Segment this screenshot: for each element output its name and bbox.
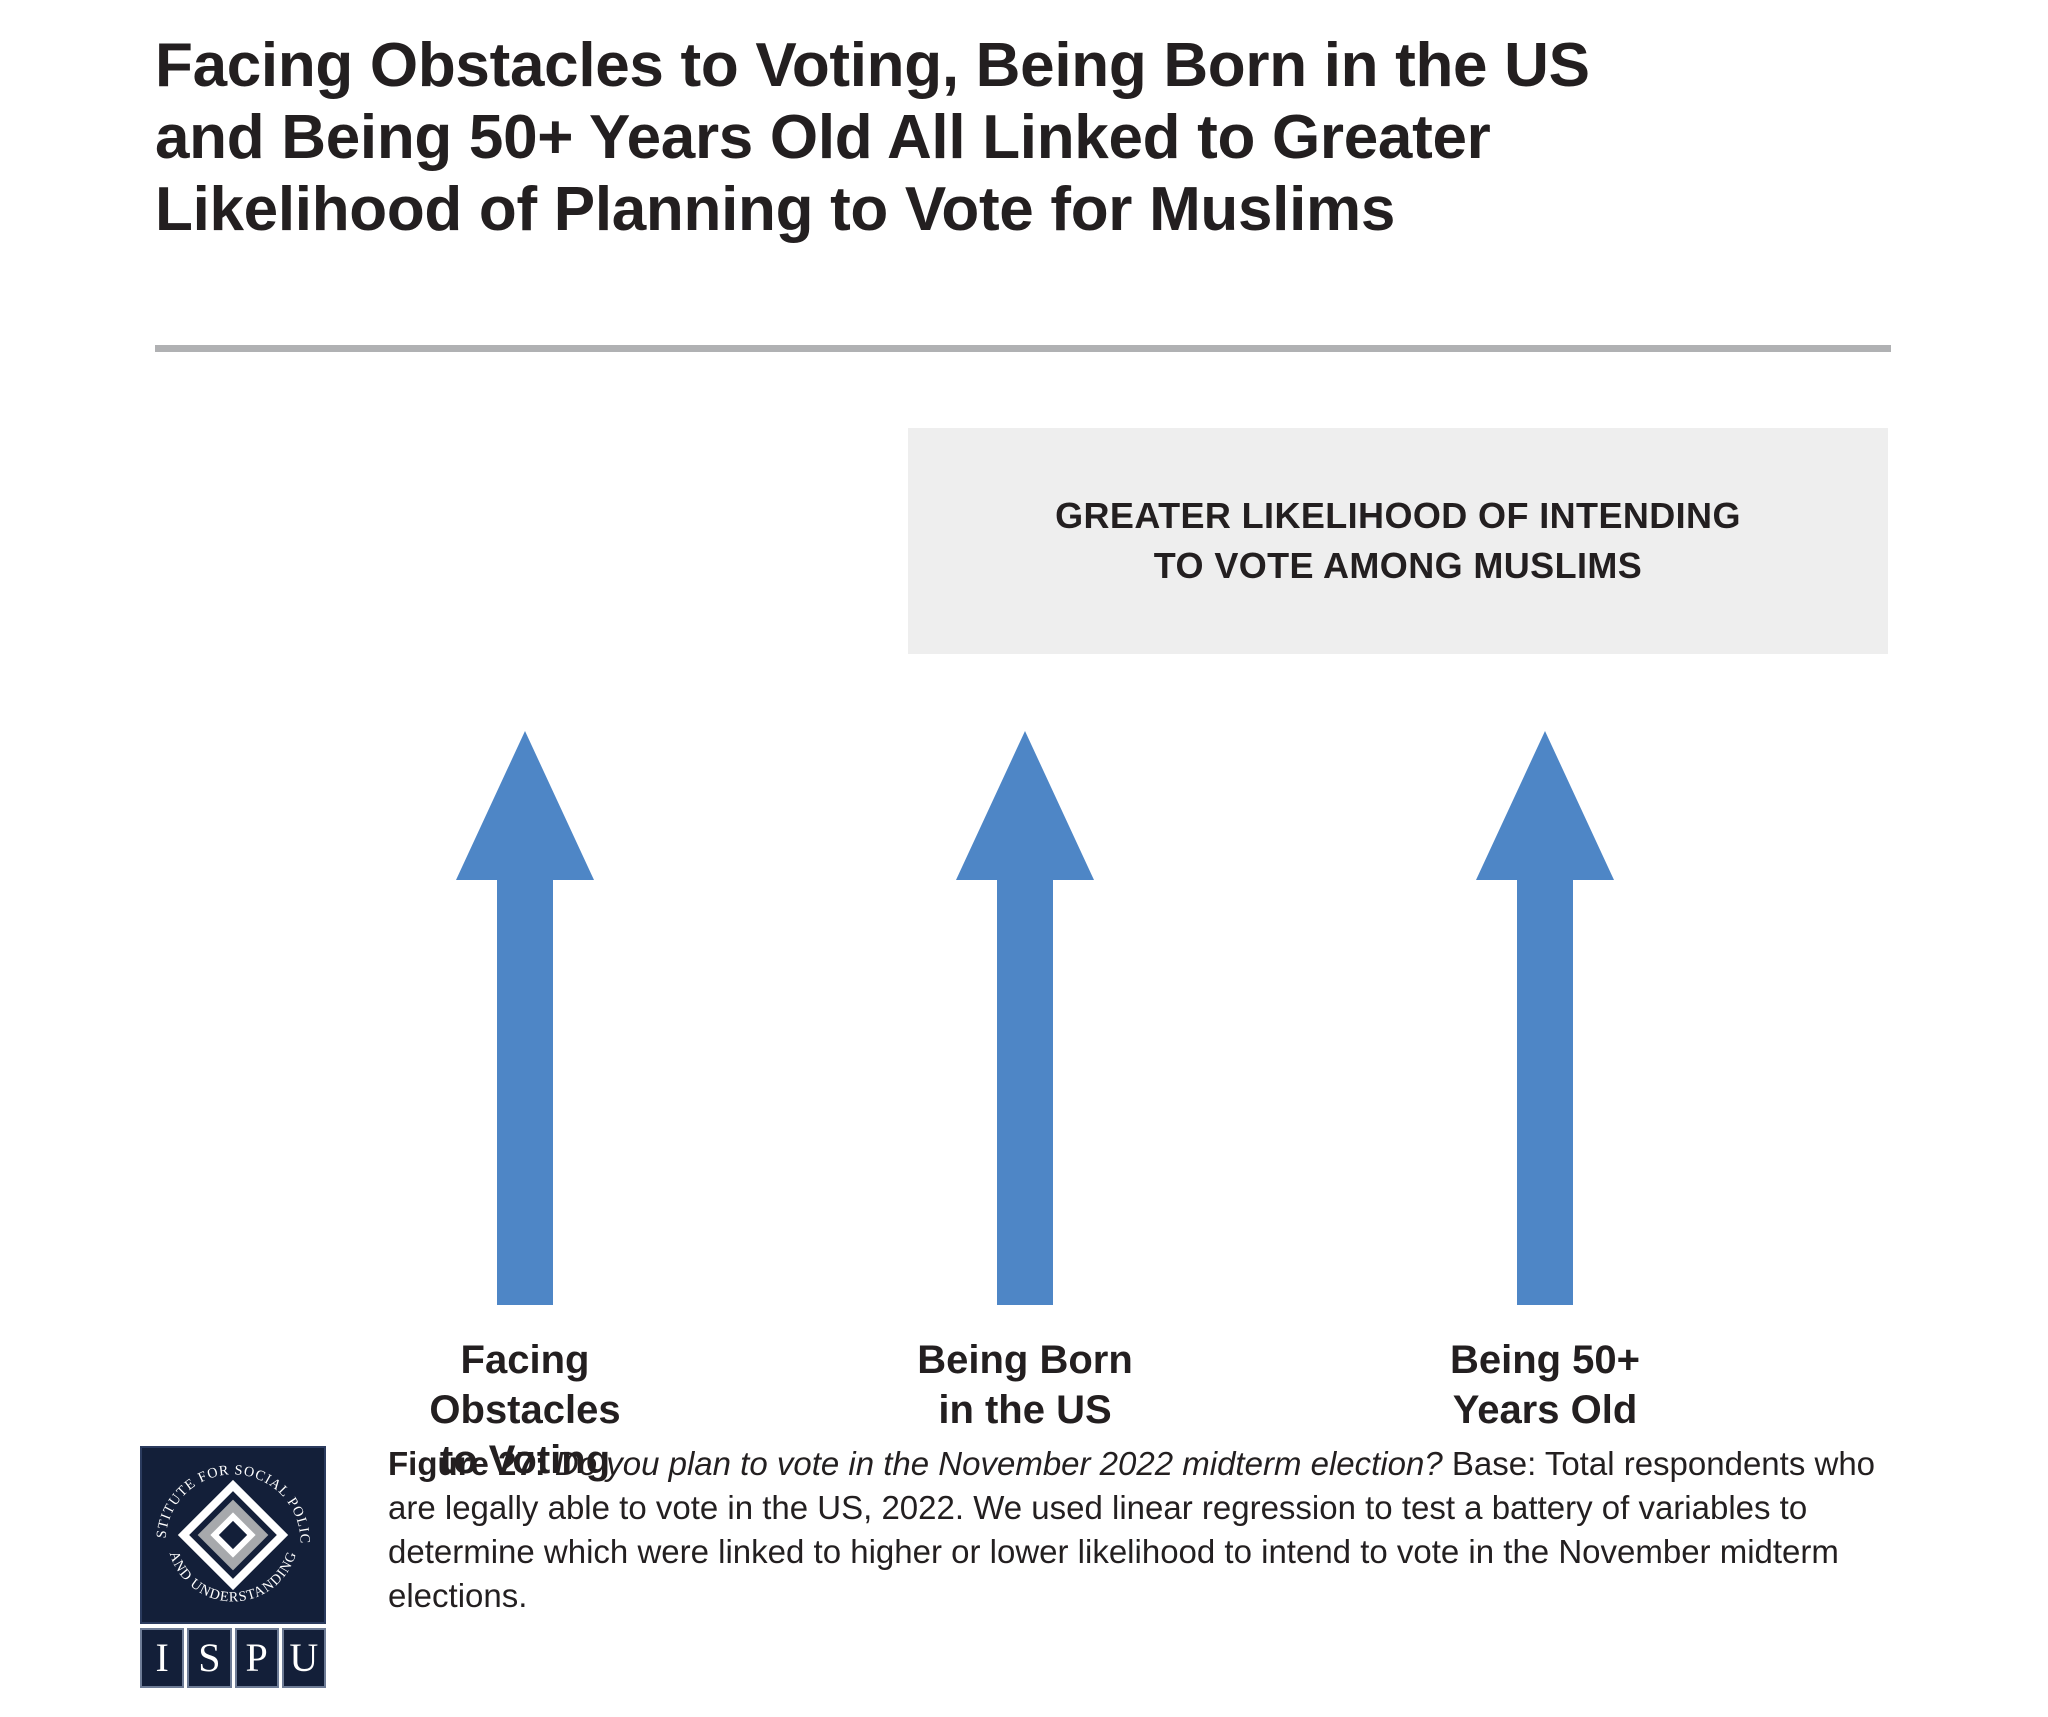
ispu-letter-u: U [282, 1628, 326, 1688]
figure-caption-question: Do you plan to vote in the November 2022… [555, 1445, 1443, 1482]
title-block: Facing Obstacles to Voting, Being Born i… [155, 30, 1915, 246]
title-divider [155, 345, 1891, 352]
arrow-group-being-born-in-the-us: Being Born in the US [875, 725, 1175, 1435]
callout-banner: GREATER LIKELIHOOD OF INTENDING TO VOTE … [908, 428, 1888, 654]
ispu-logo-badge: INSTITUTE FOR SOCIAL POLICY AND UNDERSTA… [140, 1446, 326, 1624]
figure-footer: INSTITUTE FOR SOCIAL POLICY AND UNDERSTA… [140, 1442, 1940, 1688]
diamond-emblem-icon [177, 1479, 289, 1591]
arrow-label-2: Being 50+ Years Old [1395, 1335, 1695, 1435]
arrow-group-facing-obstacles-to-voting: Facing Obstacles to Voting [375, 725, 675, 1485]
ispu-letter-i: I [140, 1628, 184, 1688]
figure-caption-label: Figure 27: [388, 1445, 546, 1482]
up-arrow-icon [450, 725, 600, 1305]
ispu-letter-s: S [187, 1628, 231, 1688]
callout-banner-text: GREATER LIKELIHOOD OF INTENDING TO VOTE … [1055, 491, 1741, 590]
ispu-letter-p: P [235, 1628, 279, 1688]
figure-caption: Figure 27: Do you plan to vote in the No… [388, 1442, 1918, 1618]
arrow-group-being-50-plus-years-old: Being 50+ Years Old [1395, 725, 1695, 1435]
up-arrow-icon [1470, 725, 1620, 1305]
arrow-label-1: Being Born in the US [875, 1335, 1175, 1435]
ispu-logo: INSTITUTE FOR SOCIAL POLICY AND UNDERSTA… [140, 1446, 336, 1688]
up-arrow-icon [950, 725, 1100, 1305]
ispu-logo-letters: I S P U [140, 1628, 326, 1688]
page-title: Facing Obstacles to Voting, Being Born i… [155, 30, 1915, 246]
